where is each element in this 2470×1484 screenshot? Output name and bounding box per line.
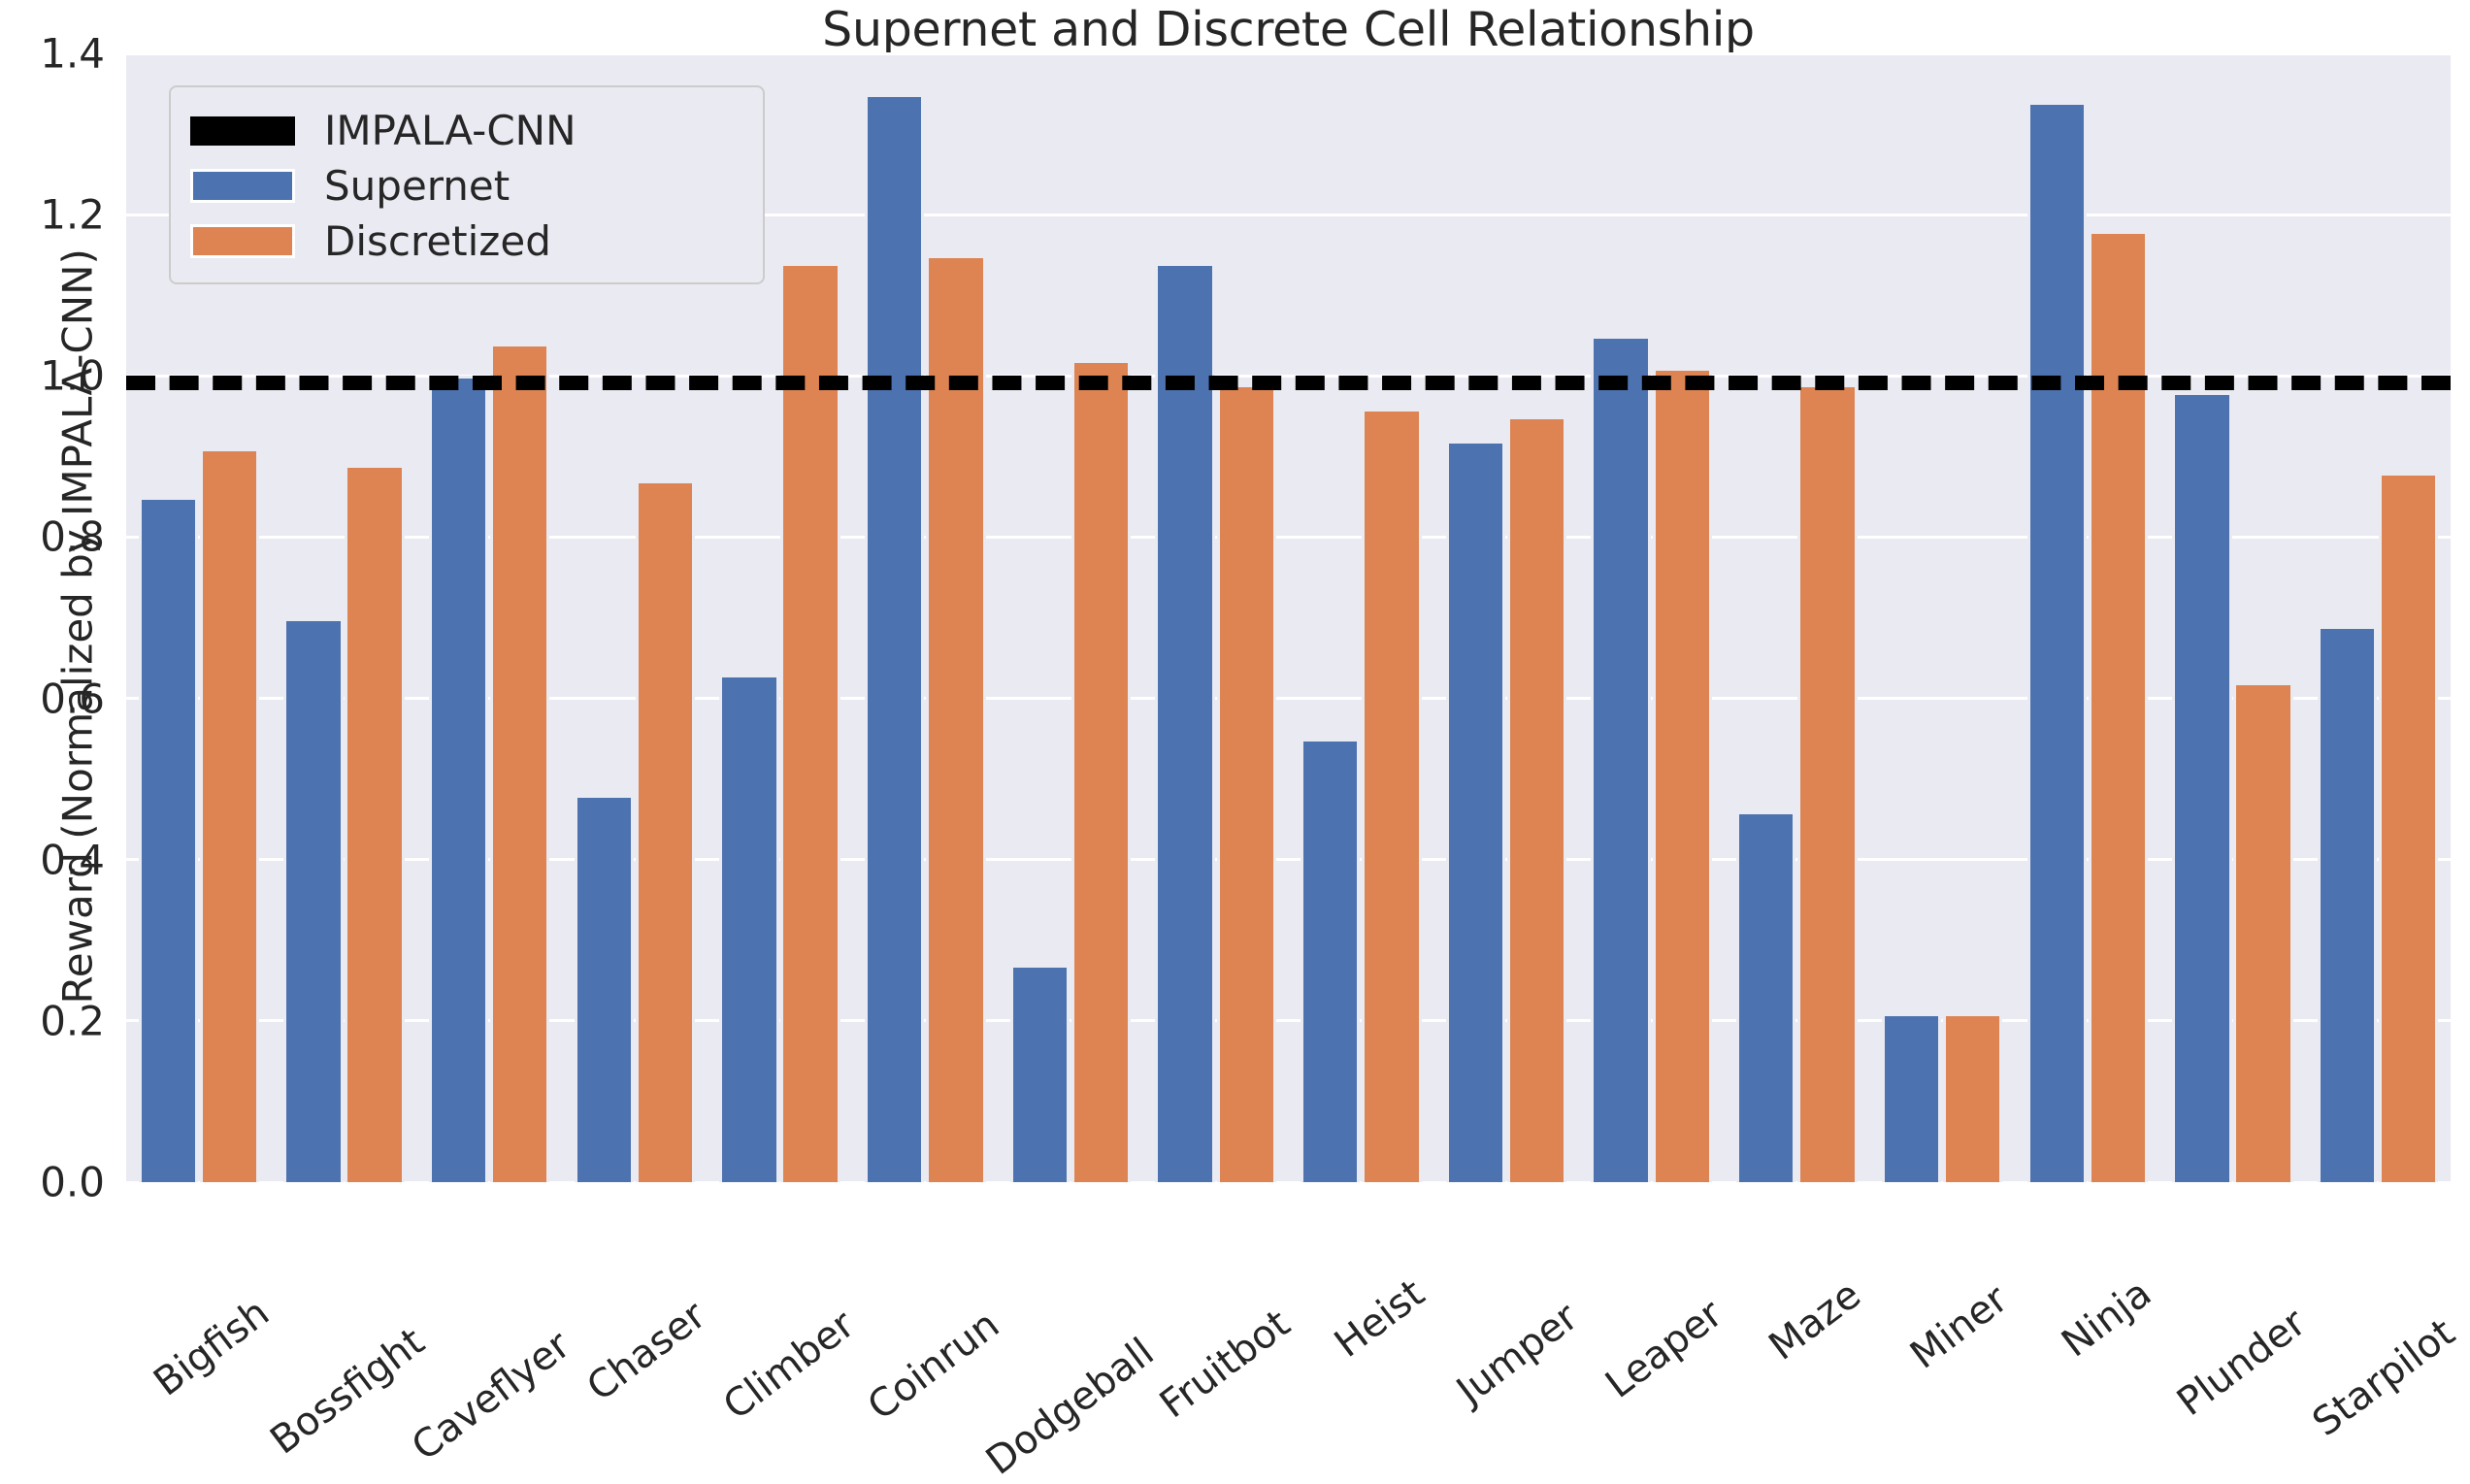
page-title: Supernet and Discrete Cell Relationship xyxy=(126,2,2451,57)
bar-bossfight-discretized xyxy=(345,465,404,1182)
x-tick-label-text: Bossfight xyxy=(262,1319,433,1463)
bar-starpilot-discretized xyxy=(2379,473,2438,1182)
x-tick-label-starpilot: Starpilot xyxy=(2436,1211,2470,1346)
bar-swatch-orange xyxy=(190,224,295,258)
x-tick-label-coinrun: Coinrun xyxy=(981,1211,1129,1338)
bar-jumper-discretized xyxy=(1507,416,1566,1182)
bar-starpilot-supernet xyxy=(2318,626,2377,1182)
legend-label: Supernet xyxy=(324,162,510,210)
bar-heist-supernet xyxy=(1301,739,1360,1182)
y-tick-label: 0.0 xyxy=(0,1159,105,1206)
bar-leaper-discretized xyxy=(1653,368,1712,1182)
x-tick-label-heist: Heist xyxy=(1406,1211,1512,1306)
bar-ninja-discretized xyxy=(2089,231,2148,1182)
x-tick-label-maze: Maze xyxy=(1842,1211,1950,1308)
bar-dodgeball-discretized xyxy=(1071,360,1131,1182)
x-tick-label-ninja: Ninja xyxy=(2132,1211,2238,1306)
legend-item-discretized: Discretized xyxy=(190,214,743,269)
y-tick-label: 0.2 xyxy=(0,997,105,1044)
x-tick-label-plunder: Plunder xyxy=(2288,1211,2432,1336)
bar-fruitbot-supernet xyxy=(1155,263,1214,1182)
bar-ninja-supernet xyxy=(2027,102,2087,1182)
x-tick-label-text: Leaper xyxy=(1597,1292,1730,1407)
x-axis-tick-labels: BigfishBossfightCaveflyerChaserClimberCo… xyxy=(126,1182,2451,1461)
y-tick-label: 1.4 xyxy=(0,30,105,78)
legend-item-supernet: Supernet xyxy=(190,158,743,214)
bar-fruitbot-discretized xyxy=(1217,384,1276,1182)
y-axis-tick-labels: 0.00.20.40.60.81.01.21.4 xyxy=(0,53,107,1182)
x-tick-label-text: Climber xyxy=(715,1303,863,1429)
bar-dodgeball-supernet xyxy=(1010,965,1070,1182)
x-tick-label-text: Plunder xyxy=(2169,1301,2314,1425)
bar-climber-supernet xyxy=(719,675,778,1182)
bar-chaser-supernet xyxy=(575,795,634,1182)
bar-maze-discretized xyxy=(1797,384,1857,1182)
bar-caveflyer-discretized xyxy=(490,344,549,1182)
x-tick-label-miner: Miner xyxy=(1990,1211,2103,1312)
legend-label: Discretized xyxy=(324,217,551,265)
y-tick-label: 1.0 xyxy=(0,352,105,400)
bar-bigfish-discretized xyxy=(200,448,259,1182)
bar-heist-discretized xyxy=(1362,409,1421,1182)
legend-label: IMPALA-CNN xyxy=(324,107,576,154)
bar-coinrun-discretized xyxy=(926,255,985,1182)
y-tick-label: 0.8 xyxy=(0,513,105,561)
bar-swatch-blue xyxy=(190,169,295,203)
x-tick-label-text: Dodgeball xyxy=(978,1330,1163,1484)
legend-item-impala-cnn: IMPALA-CNN xyxy=(190,103,743,158)
y-tick-label: 1.2 xyxy=(0,191,105,239)
bar-miner-supernet xyxy=(1882,1013,1941,1182)
bar-bigfish-supernet xyxy=(139,497,198,1182)
bar-jumper-supernet xyxy=(1446,441,1505,1182)
bar-climber-discretized xyxy=(780,263,840,1182)
bar-chaser-discretized xyxy=(636,480,695,1182)
x-tick-label-text: Jumper xyxy=(1449,1295,1587,1414)
bar-leaper-supernet xyxy=(1591,336,1650,1182)
bar-coinrun-supernet xyxy=(865,94,924,1182)
reference-line-impala-cnn xyxy=(126,376,2451,390)
bar-caveflyer-supernet xyxy=(429,376,488,1182)
x-tick-label-text: Ninja xyxy=(2054,1270,2159,1366)
bar-maze-supernet xyxy=(1736,811,1795,1182)
bar-plunder-discretized xyxy=(2233,682,2292,1182)
bar-miner-discretized xyxy=(1943,1013,2002,1182)
chart-figure: Supernet and Discrete Cell Relationship … xyxy=(0,0,2470,1461)
legend: IMPALA-CNNSupernetDiscretized xyxy=(169,85,765,284)
x-tick-label-text: Bigfish xyxy=(146,1290,278,1404)
gridline xyxy=(126,52,2451,55)
bar-plunder-supernet xyxy=(2172,392,2231,1182)
line-swatch-black xyxy=(190,116,295,146)
y-tick-label: 0.4 xyxy=(0,836,105,883)
y-tick-label: 0.6 xyxy=(0,675,105,722)
x-tick-label-text: Miner xyxy=(1902,1276,2016,1377)
x-tick-label-text: Starpilot xyxy=(2305,1310,2463,1445)
x-tick-label-bigfish: Bigfish xyxy=(250,1211,382,1326)
bar-bossfight-supernet xyxy=(283,618,343,1183)
